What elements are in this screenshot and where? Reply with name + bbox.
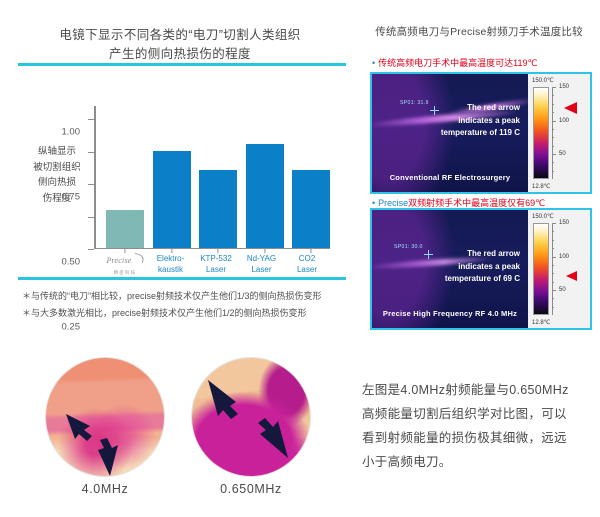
x-tick-label: Precise精密科技 [102, 254, 148, 282]
scale-minor-tick [552, 95, 554, 96]
chart-bar [292, 170, 330, 248]
scale-tick-label: 150 [559, 84, 569, 90]
scale-minor-tick [552, 298, 554, 299]
chart-bar [199, 170, 237, 248]
x-tick-label-line: Elektro- [148, 254, 194, 265]
histology-image-4mhz [46, 358, 164, 476]
peak-temperature-arrow-icon-2 [566, 271, 577, 281]
thermal-caption-1: •传统高频电刀手术中最高温度可达119℃ [372, 56, 600, 69]
thermal-2-overlay-text: The red arrow indicates a peak temperatu… [396, 248, 520, 286]
scale-tick-label: 50 [559, 287, 566, 293]
thermal-1-overlay-line-1: The red arrow [396, 102, 520, 115]
thermal-image-conventional: SP01: 31.9 The red arrow indicates a pea… [370, 72, 592, 194]
y-tick: 0.50 [88, 184, 94, 185]
y-tick-label: 0.75 [62, 192, 81, 203]
thermal-image-precise: SP01: 30.0 The red arrow indicates a pea… [370, 208, 592, 330]
footnote-1: ＊与传统的“电刀”相比较，precise射频技术仅产生他们1/3的侧向热损伤变形 [22, 288, 352, 305]
x-tick-label: Nd-YAGLaser [239, 254, 285, 282]
scale-minor-tick [552, 121, 554, 122]
scale-minor-tick [552, 290, 554, 291]
description-line-3: 看到射频能量的损伤极其细微，远远 [362, 426, 598, 450]
left-title-line-1: 电镜下显示不同各类的“电刀”切割人类组织 [20, 26, 340, 45]
scale-minor-tick [552, 171, 554, 172]
scale-minor-tick [552, 162, 554, 163]
thermal-1-scale-min: 12.8℃ [528, 183, 590, 190]
bar-chart-panel: 纵轴显示 被切割组织 侧向热损 伤程度 00.250.500.751.00 Pr… [18, 63, 346, 280]
thermal-image-2-field: SP01: 30.0 The red arrow indicates a pea… [372, 210, 528, 328]
x-tick-label-line: kaustik [148, 265, 194, 276]
x-tick-label: KTP-532Laser [193, 254, 239, 282]
scale-minor-tick [552, 257, 554, 258]
scale-minor-tick [552, 240, 554, 241]
chart-bar [106, 210, 144, 248]
histology-image-650khz [192, 358, 310, 476]
x-tick-label-line: Laser [239, 265, 285, 276]
right-column: 传统高频电刀与Precise射频刀手术温度比较 •传统高频电刀手术中最高温度可达… [358, 0, 600, 517]
thermal-caption-1-text: 传统高频电刀手术中最高温度可达119℃ [378, 58, 537, 68]
thermal-1-overlay-line-3: temperature of 119 C [396, 127, 520, 140]
thermal-1-overlay-line-2: indicates a peak [396, 115, 520, 128]
bar-slot [199, 106, 237, 248]
thermal-1-caption: Conventional RF Electrosurgery [372, 173, 528, 182]
chart-y-axis-label: 纵轴显示 被切割组织 侧向热损 伤程度 [22, 144, 92, 206]
scale-minor-tick [552, 265, 554, 266]
left-column: 电镜下显示不同各类的“电刀”切割人类组织 产生的侧向热损伤的程度 纵轴显示 被切… [0, 0, 358, 517]
bar-tick [124, 248, 125, 253]
thermal-2-scale-min: 12.8℃ [528, 319, 590, 326]
bar-slot [246, 106, 284, 248]
right-description: 左图是4.0MHz射频能量与0.650MHz 高频能量切割后组织学对比图，可以 … [362, 378, 598, 474]
chart-y-axis [94, 106, 96, 249]
y-tick: 1.00 [88, 119, 94, 120]
scale-minor-tick [552, 231, 554, 232]
scale-minor-tick [552, 104, 554, 105]
y-axis-label-line-4: 伤程度 [22, 191, 92, 207]
scale-tick-label: 100 [559, 254, 569, 260]
y-tick-label: 0.25 [62, 322, 81, 333]
thermal-2-overlay-line-1: The red arrow [396, 248, 520, 261]
peak-temperature-arrow-icon [564, 102, 577, 114]
bullet-icon-2: • [372, 198, 375, 208]
bar-tick [264, 248, 265, 253]
precise-logo: Precise精密科技 [106, 254, 143, 278]
bullet-icon: • [372, 58, 375, 68]
y-tick: 0 [88, 249, 94, 250]
scale-tick-label: 150 [559, 220, 569, 226]
thermal-1-color-scale: 150.0℃ 15010050 12.8℃ [528, 74, 590, 192]
thermal-2-color-scale: 150.0℃ 15010050 12.8℃ [528, 210, 590, 328]
scale-tick [552, 87, 556, 88]
scale-minor-tick [552, 154, 554, 155]
x-tick-label: CO2Laser [284, 254, 330, 282]
left-title: 电镜下显示不同各类的“电刀”切割人类组织 产生的侧向热损伤的程度 [20, 26, 340, 64]
scale-minor-tick [552, 248, 554, 249]
description-line-1: 左图是4.0MHz射频能量与0.650MHz [362, 378, 598, 402]
color-bar-2 [533, 223, 549, 315]
description-line-2: 高频能量切割后组织学对比图，可以 [362, 402, 598, 426]
histology-arrows-right [192, 358, 310, 476]
thermal-2-scale-max: 150.0℃ [528, 213, 590, 220]
scale-axis-2 [552, 223, 553, 315]
left-title-line-2: 产生的侧向热损伤的程度 [20, 45, 340, 64]
scale-minor-tick [552, 112, 554, 113]
chart-bars [106, 106, 330, 248]
y-tick: 0.25 [88, 217, 94, 218]
scale-minor-tick [552, 273, 554, 274]
chart-bar [246, 144, 284, 248]
description-line-4: 小于高频电刀。 [362, 450, 598, 474]
color-bar [533, 87, 549, 179]
thermal-image-1-field: SP01: 31.9 The red arrow indicates a pea… [372, 74, 528, 192]
thermal-2-overlay-line-3: temperature of 69 C [396, 273, 520, 286]
chart-x-tick-labels: Precise精密科技Elektro-kaustikKTP-532LaserNd… [106, 254, 330, 282]
scale-tick-label: 100 [559, 118, 569, 124]
histology-label-right: 0.650MHz [172, 482, 330, 496]
thermal-1-scale-max: 150.0℃ [528, 77, 590, 84]
scale-minor-tick [552, 146, 554, 147]
x-tick-label: Elektro-kaustik [148, 254, 194, 282]
logo-subtext: 精密科技 [106, 268, 143, 279]
thermal-2-overlay-line-2: indicates a peak [396, 261, 520, 274]
bar-slot [292, 106, 330, 248]
bar-tick [171, 248, 172, 253]
x-tick-label-line: Nd-YAG [239, 254, 285, 265]
bar-slot [106, 106, 144, 248]
histology-figures: 4.0MHz 0.650MHz [26, 358, 346, 508]
chart-plot-area: 00.250.500.751.00 [94, 106, 330, 249]
x-tick-label-line: Laser [193, 265, 239, 276]
bar-slot [153, 106, 191, 248]
scale-tick-label: 50 [559, 151, 566, 157]
histology-arrows-left [46, 358, 164, 476]
bar-tick [310, 248, 311, 253]
y-axis-label-line-2: 被切割组织 [22, 160, 92, 176]
thermal-2-caption: Precise High Frequency RF 4.0 MHz [372, 309, 528, 318]
thermal-1-overlay-text: The red arrow indicates a peak temperatu… [396, 102, 520, 140]
bar-tick [217, 248, 218, 253]
infographic-page: 电镜下显示不同各类的“电刀”切割人类组织 产生的侧向热损伤的程度 纵轴显示 被切… [0, 0, 600, 517]
x-tick-label-line: CO2 [284, 254, 330, 265]
y-axis-label-line-3: 侧向热损 [22, 175, 92, 191]
chart-bar [153, 151, 191, 249]
right-title: 传统高频电刀与Precise射频刀手术温度比较 [358, 24, 600, 39]
scale-minor-tick [552, 129, 554, 130]
y-tick-label: 1.00 [62, 127, 81, 138]
y-tick-label: 0.50 [62, 257, 81, 268]
logo-swoosh-icon [132, 252, 145, 263]
y-tick: 0.75 [88, 152, 94, 153]
scale-minor-tick [552, 137, 554, 138]
scale-axis [552, 87, 553, 179]
histology-label-left: 4.0MHz [26, 482, 184, 496]
x-tick-label-line: KTP-532 [193, 254, 239, 265]
scale-minor-tick [552, 307, 554, 308]
chart-footnotes: ＊与传统的“电刀”相比较，precise射频技术仅产生他们1/3的侧向热损伤变形… [22, 288, 352, 322]
x-tick-label-line: Laser [284, 265, 330, 276]
scale-tick [552, 223, 556, 224]
y-axis-label-line-1: 纵轴显示 [22, 144, 92, 160]
footnote-2: ＊与大多数激光相比，precise射频技术仅产生他们1/2的侧向热损伤变形 [22, 305, 352, 322]
thermal-caption-2-brand: Precise [378, 198, 408, 208]
thermal-caption-2-text: 双频射频手术中最高温度仅有69℃ [408, 198, 545, 208]
scale-minor-tick [552, 282, 554, 283]
